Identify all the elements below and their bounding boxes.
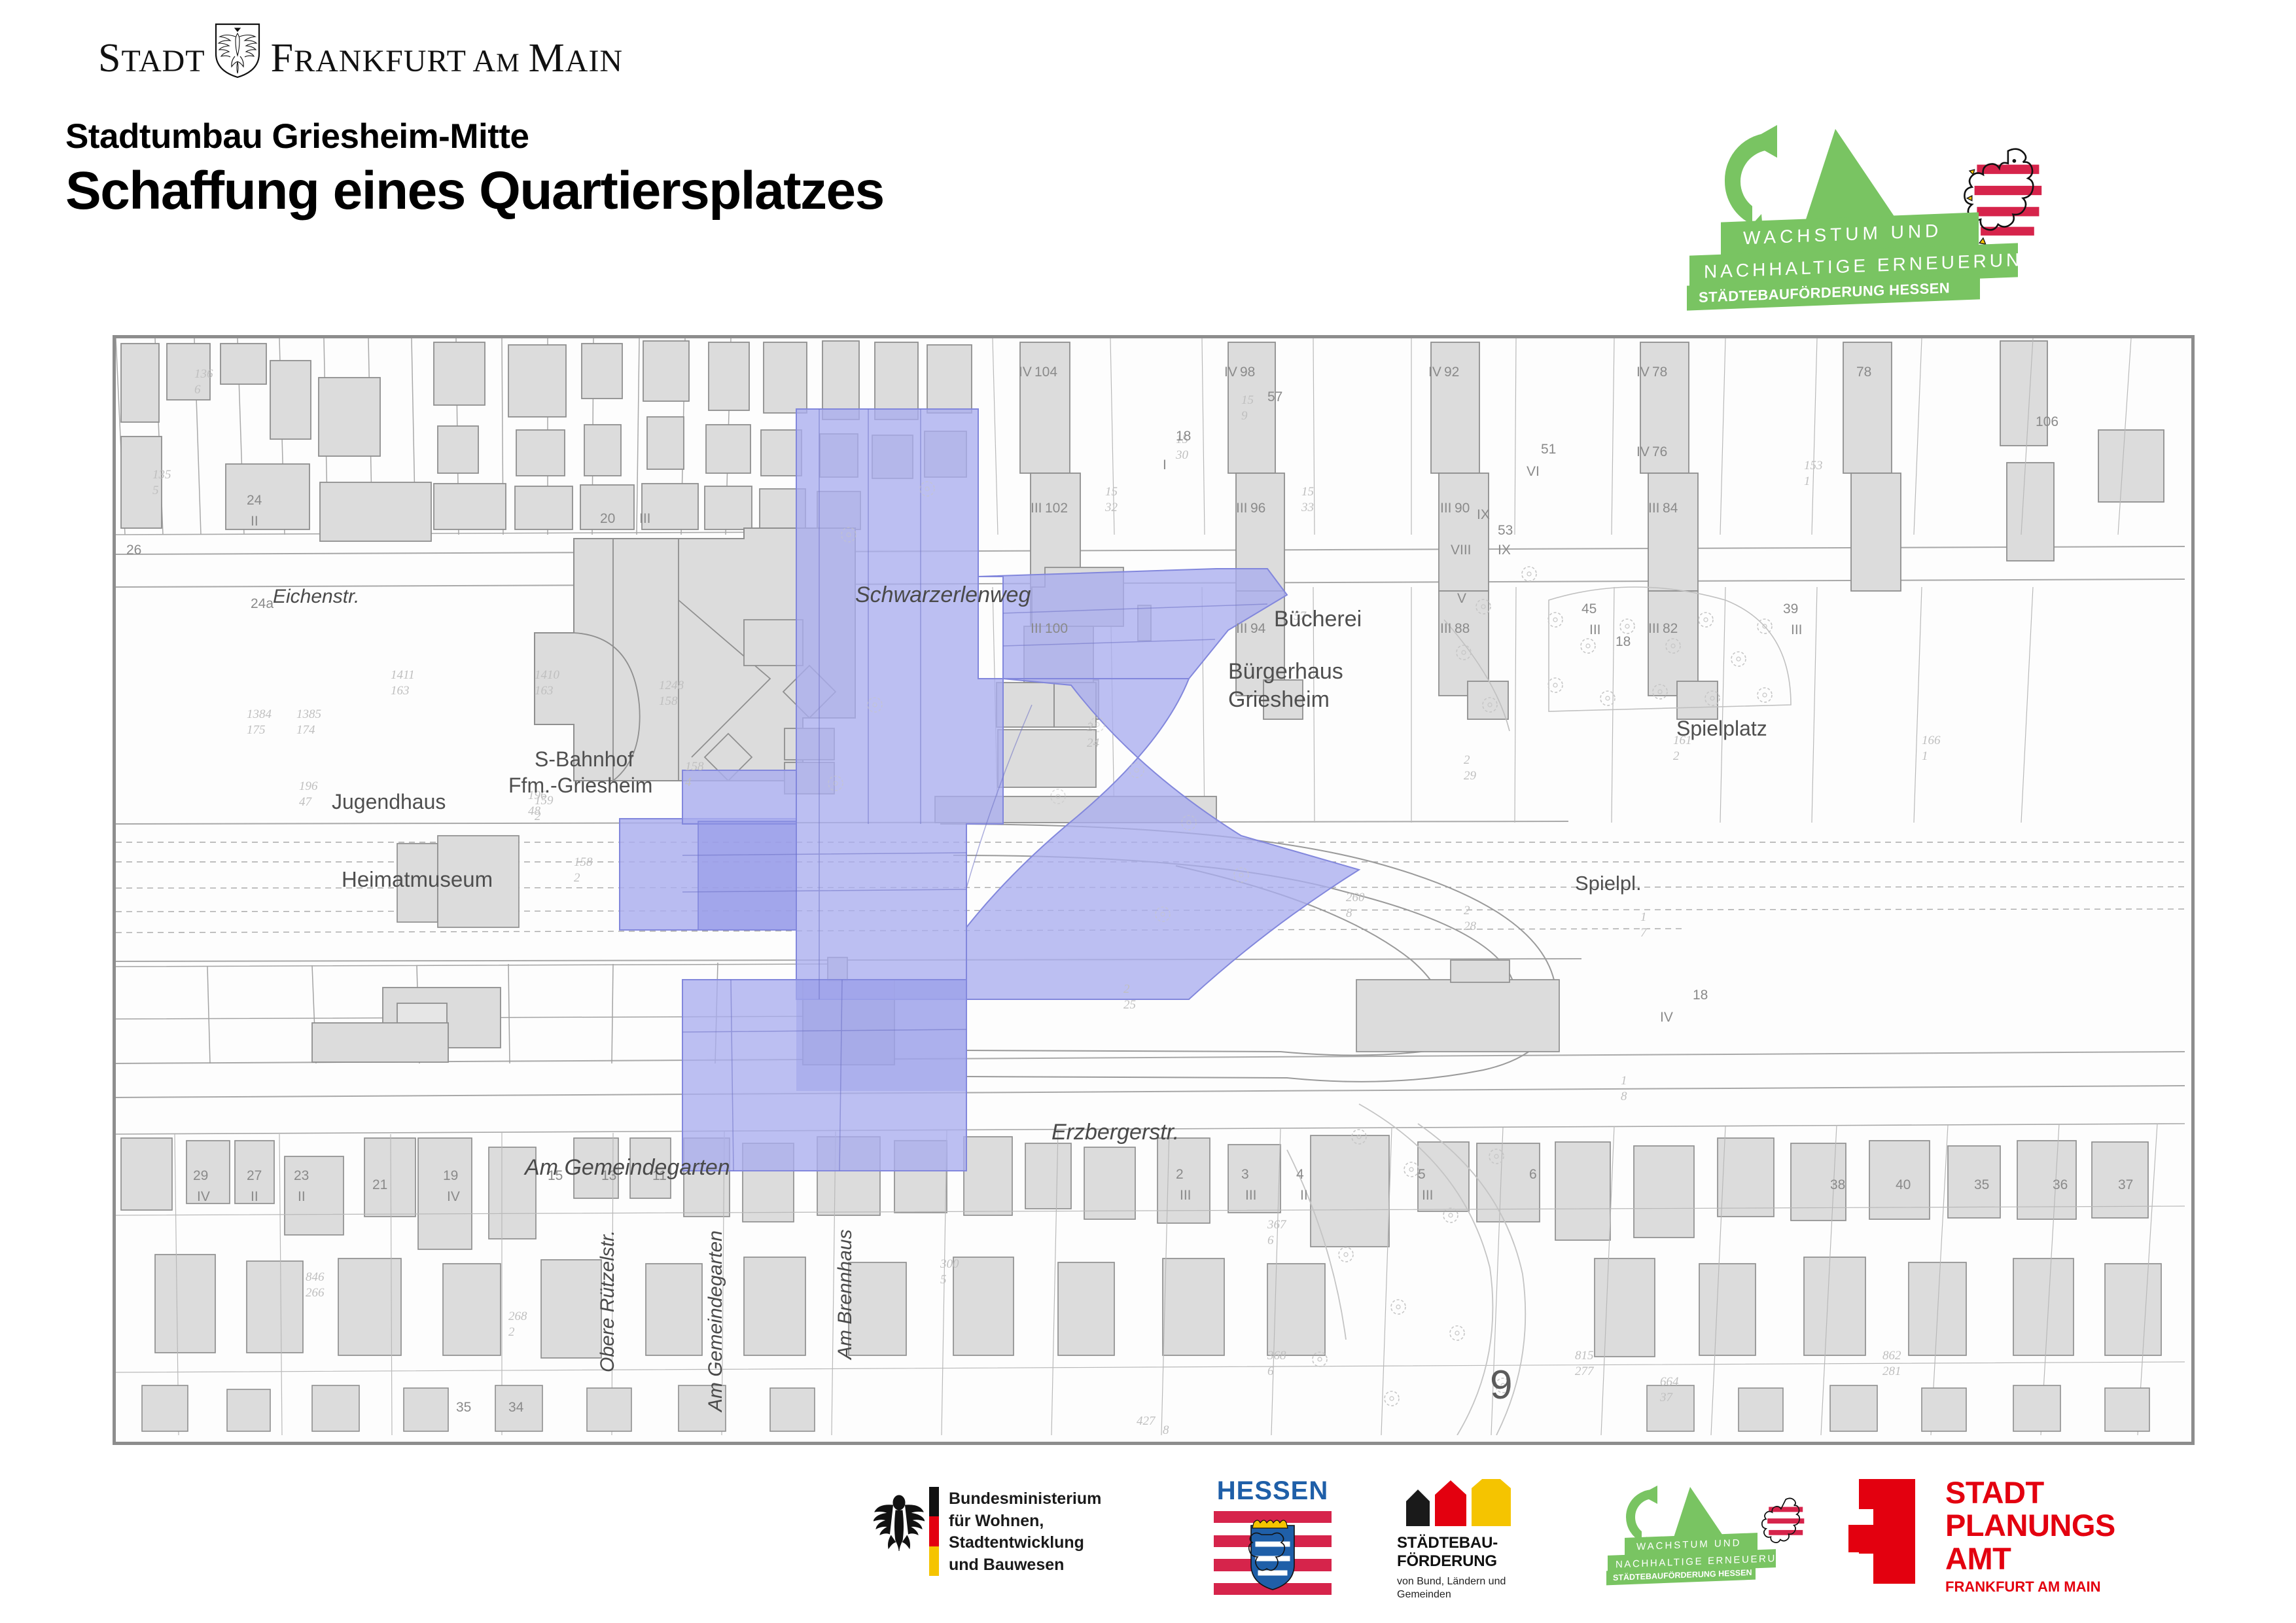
svg-text:24: 24: [247, 493, 262, 508]
svg-text:163: 163: [391, 684, 410, 698]
svg-text:40: 40: [1896, 1177, 1911, 1192]
svg-text:VIII: VIII: [1451, 543, 1472, 558]
map-canvas: 9: [116, 338, 2185, 1435]
hessen-lion-shield-icon: [1248, 1515, 1297, 1592]
svg-text:15: 15: [1241, 393, 1254, 407]
svg-text:90: 90: [1455, 501, 1470, 516]
svg-text:76: 76: [1652, 444, 1667, 459]
staedtebaufoerderung-logo: STÄDTEBAU- FÖRDERUNG von Bund, Ländern u…: [1397, 1479, 1554, 1590]
svg-text:I: I: [1163, 457, 1167, 473]
svg-text:III: III: [1031, 621, 1042, 636]
svg-text:268: 268: [508, 1310, 527, 1323]
svg-text:24: 24: [1087, 736, 1100, 750]
svg-text:III: III: [1245, 1188, 1257, 1203]
svg-text:368: 368: [1267, 1349, 1286, 1363]
house-icons: [1401, 1479, 1522, 1526]
staedtebau-sub-2: Gemeinden: [1397, 1588, 1554, 1601]
svg-text:96: 96: [1250, 501, 1265, 516]
title-block: Stadtumbau Griesheim-Mitte Schaffung ein…: [65, 118, 884, 221]
svg-text:47: 47: [299, 795, 313, 809]
svg-text:III: III: [1440, 621, 1452, 636]
svg-text:23: 23: [294, 1168, 309, 1183]
svg-text:815: 815: [1575, 1349, 1594, 1363]
city-logo-text-left: STADT: [98, 38, 205, 79]
svg-text:4: 4: [685, 776, 692, 789]
svg-text:VI: VI: [1527, 464, 1540, 479]
svg-text:15: 15: [1301, 485, 1314, 499]
svg-text:III: III: [1648, 621, 1660, 636]
svg-text:161: 161: [1673, 734, 1692, 747]
staedtebau-line-2: FÖRDERUNG: [1397, 1552, 1554, 1571]
svg-text:135: 135: [152, 468, 171, 482]
svg-text:664: 664: [1660, 1375, 1679, 1389]
svg-text:3: 3: [1241, 1167, 1249, 1182]
svg-text:260: 260: [1346, 891, 1365, 904]
staedtebau-sub-1: von Bund, Ländern und: [1397, 1575, 1554, 1588]
svg-text:862: 862: [1882, 1349, 1901, 1363]
bmwsb-line-1: Bundesministerium: [949, 1488, 1181, 1510]
svg-text:78: 78: [1652, 365, 1667, 380]
svg-text:III: III: [1422, 1188, 1434, 1203]
city-logo: STADT FRANKFURT AM MAIN: [98, 29, 523, 79]
svg-text:1: 1: [1640, 910, 1647, 924]
svg-text:84: 84: [1663, 501, 1678, 516]
wachstum-erneuerung-emblem: WACHSTUM UND NACHHALTIGE ERNEUERUNG STÄD…: [1701, 121, 2107, 298]
hessen-flag: [1214, 1511, 1332, 1595]
svg-text:IV: IV: [447, 1189, 460, 1204]
svg-text:158: 158: [659, 694, 678, 708]
svg-text:45: 45: [1581, 601, 1597, 616]
svg-text:20: 20: [600, 511, 615, 526]
svg-text:IV: IV: [197, 1189, 210, 1204]
svg-text:300: 300: [940, 1257, 959, 1271]
svg-text:V: V: [1457, 591, 1466, 606]
svg-text:8: 8: [1621, 1090, 1627, 1103]
svg-text:III: III: [1236, 501, 1248, 516]
svg-text:2: 2: [1464, 904, 1470, 918]
svg-text:2: 2: [1673, 749, 1680, 763]
svg-text:27: 27: [247, 1168, 262, 1183]
svg-text:88: 88: [1455, 621, 1470, 636]
stadtplanungsamt-logo: STADT PLANUNGS AMT FRANKFURT AM MAIN: [1848, 1479, 2189, 1597]
svg-text:78: 78: [1856, 365, 1871, 380]
svg-text:29: 29: [193, 1168, 208, 1183]
svg-text:2: 2: [1176, 1167, 1184, 1182]
svg-text:102: 102: [1045, 501, 1068, 516]
svg-text:25: 25: [1123, 998, 1136, 1012]
map-numeral-9: 9: [1490, 1363, 1512, 1408]
svg-text:39: 39: [1783, 601, 1798, 616]
svg-text:IV: IV: [1660, 1010, 1673, 1025]
svg-text:277: 277: [1575, 1364, 1595, 1378]
svg-text:33: 33: [1301, 501, 1314, 514]
staedtebau-label: STÄDTEBAU- FÖRDERUNG: [1397, 1534, 1554, 1570]
svg-text:6: 6: [1529, 1167, 1537, 1182]
svg-text:6: 6: [1267, 1234, 1274, 1247]
spa-line-2: PLANUNGS: [1945, 1509, 2115, 1542]
bmwsb-text: Bundesministerium für Wohnen, Stadtentwi…: [949, 1488, 1181, 1576]
svg-text:28: 28: [1464, 919, 1477, 933]
svg-text:8: 8: [1163, 1423, 1169, 1435]
svg-text:IV: IV: [1636, 365, 1650, 380]
house-icon-yellow: [1472, 1479, 1511, 1526]
hessen-logo: HESSEN: [1214, 1476, 1332, 1594]
svg-text:6: 6: [194, 383, 201, 397]
svg-text:106: 106: [2036, 414, 2058, 429]
svg-text:II: II: [251, 1189, 258, 1204]
house-icon-black: [1406, 1489, 1430, 1526]
svg-text:1: 1: [1922, 749, 1928, 763]
spa-line-1: STADT: [1945, 1476, 2115, 1509]
spa-subline: FRANKFURT AM MAIN: [1945, 1578, 2100, 1596]
svg-text:2: 2: [1123, 982, 1130, 996]
svg-text:IV: IV: [1224, 365, 1237, 380]
svg-text:1384: 1384: [247, 707, 272, 721]
svg-text:24a: 24a: [251, 596, 274, 611]
hessen-lion-icon-footer: [1762, 1498, 1804, 1543]
svg-text:98: 98: [1240, 365, 1255, 380]
svg-text:7: 7: [1640, 926, 1648, 940]
svg-text:37: 37: [2118, 1177, 2133, 1192]
svg-text:158: 158: [574, 855, 593, 869]
wachstum-erneuerung-emblem-footer: WACHSTUM UND NACHHALTIGE ERNEUERUNG STÄD…: [1613, 1484, 1819, 1586]
svg-text:92: 92: [1444, 365, 1459, 380]
stadtplanungsamt-mark-icon: [1848, 1479, 1926, 1584]
svg-text:15: 15: [1105, 485, 1118, 499]
svg-text:IX: IX: [1477, 507, 1490, 522]
svg-text:8: 8: [1346, 906, 1352, 920]
svg-text:IX: IX: [1498, 543, 1511, 558]
cadastral-map[interactable]: 9: [113, 335, 2195, 1445]
svg-text:1248: 1248: [659, 679, 684, 692]
bundesadler-icon: [874, 1492, 925, 1552]
svg-text:367: 367: [1267, 1218, 1287, 1232]
page-footer: Bundesministerium für Wohnen, Stadtentwi…: [0, 1465, 2296, 1623]
svg-text:153: 153: [1804, 459, 1823, 473]
svg-text:281: 281: [1882, 1364, 1901, 1378]
svg-text:5: 5: [940, 1273, 947, 1287]
svg-text:III: III: [1648, 501, 1660, 516]
svg-text:57: 57: [1267, 389, 1282, 404]
svg-text:53: 53: [1498, 523, 1513, 538]
stadtplanungsamt-wordmark: STADT PLANUNGS AMT: [1945, 1476, 2115, 1575]
svg-text:2: 2: [508, 1325, 515, 1339]
svg-text:13: 13: [601, 1168, 616, 1183]
svg-text:IV: IV: [1636, 444, 1650, 459]
svg-text:5: 5: [152, 484, 159, 497]
bmwsb-line-2: für Wohnen, Stadtentwicklung: [949, 1510, 1181, 1554]
svg-text:94: 94: [1250, 621, 1266, 636]
frankfurt-eagle-crest-icon: [213, 22, 262, 79]
svg-text:2: 2: [574, 871, 580, 885]
svg-text:38: 38: [1830, 1177, 1845, 1192]
house-icon-red: [1435, 1480, 1466, 1526]
svg-text:82: 82: [1663, 621, 1678, 636]
city-logo-text-right: FRANKFURT AM MAIN: [271, 38, 623, 79]
page-header: STADT FRANKFURT AM MAIN Stadtumbau Gries…: [0, 0, 2296, 308]
svg-text:III: III: [639, 511, 651, 526]
svg-text:29: 29: [1464, 769, 1477, 783]
svg-text:166: 166: [1922, 734, 1941, 747]
svg-text:9: 9: [1241, 409, 1248, 423]
svg-text:174: 174: [296, 723, 315, 737]
svg-text:30: 30: [1175, 448, 1189, 462]
svg-text:15: 15: [548, 1168, 563, 1183]
svg-text:18: 18: [1176, 429, 1191, 444]
svg-text:136: 136: [194, 367, 213, 381]
hessen-wordmark: HESSEN: [1214, 1476, 1332, 1506]
svg-text:26: 26: [126, 543, 141, 558]
svg-text:163: 163: [535, 684, 554, 698]
svg-text:4: 4: [1296, 1167, 1304, 1182]
svg-text:5: 5: [1418, 1167, 1426, 1182]
svg-text:36: 36: [2053, 1177, 2068, 1192]
svg-text:II: II: [1300, 1188, 1308, 1203]
project-subtitle: Stadtumbau Griesheim-Mitte: [65, 118, 884, 156]
svg-text:II: II: [298, 1189, 306, 1204]
svg-text:1: 1: [1804, 474, 1810, 488]
svg-text:IV: IV: [1019, 365, 1032, 380]
svg-text:37: 37: [1659, 1391, 1674, 1404]
svg-text:6: 6: [1267, 1364, 1274, 1378]
svg-text:19: 19: [443, 1168, 458, 1183]
svg-text:48: 48: [528, 804, 541, 818]
german-flag-bar: [929, 1487, 939, 1576]
svg-text:1411: 1411: [391, 668, 415, 682]
svg-text:51: 51: [1541, 442, 1556, 457]
svg-text:III: III: [1440, 501, 1452, 516]
svg-text:158: 158: [685, 760, 704, 774]
svg-text:III: III: [1791, 622, 1803, 637]
svg-text:175: 175: [247, 723, 266, 737]
svg-text:2: 2: [1464, 753, 1470, 767]
bmwsb-logo: Bundesministerium für Wohnen, Stadtentwi…: [874, 1479, 1181, 1584]
spa-line-3: AMT: [1945, 1543, 2115, 1575]
svg-text:18: 18: [1693, 988, 1708, 1003]
svg-text:III: III: [1236, 621, 1248, 636]
svg-text:III: III: [1031, 501, 1042, 516]
svg-text:1385: 1385: [296, 707, 321, 721]
svg-text:18: 18: [1616, 634, 1631, 649]
svg-text:34: 34: [508, 1400, 524, 1415]
staedtebau-line-1: STÄDTEBAU-: [1397, 1534, 1554, 1552]
staedtebau-sub: von Bund, Ländern und Gemeinden: [1397, 1575, 1554, 1601]
svg-text:11: 11: [652, 1168, 667, 1183]
svg-text:II: II: [251, 514, 258, 529]
svg-text:196: 196: [528, 789, 547, 802]
svg-text:1410: 1410: [535, 668, 560, 682]
svg-text:846: 846: [306, 1270, 325, 1284]
bmwsb-line-3: und Bauwesen: [949, 1554, 1181, 1577]
svg-text:32: 32: [1104, 501, 1118, 514]
svg-text:2: 2: [1087, 721, 1093, 734]
svg-text:57: 57: [1294, 609, 1307, 623]
svg-text:427: 427: [1137, 1414, 1156, 1428]
svg-text:35: 35: [456, 1400, 471, 1415]
svg-text:IV: IV: [1428, 365, 1441, 380]
svg-text:266: 266: [306, 1286, 325, 1300]
svg-text:196: 196: [299, 779, 318, 793]
svg-text:104: 104: [1034, 365, 1057, 380]
svg-text:III: III: [1589, 622, 1601, 637]
page-title: Schaffung eines Quartiersplatzes: [65, 161, 884, 221]
svg-text:35: 35: [1974, 1177, 1989, 1192]
svg-text:III: III: [1180, 1188, 1192, 1203]
svg-text:1: 1: [1621, 1074, 1627, 1088]
svg-text:100: 100: [1045, 621, 1068, 636]
svg-text:21: 21: [372, 1177, 387, 1192]
